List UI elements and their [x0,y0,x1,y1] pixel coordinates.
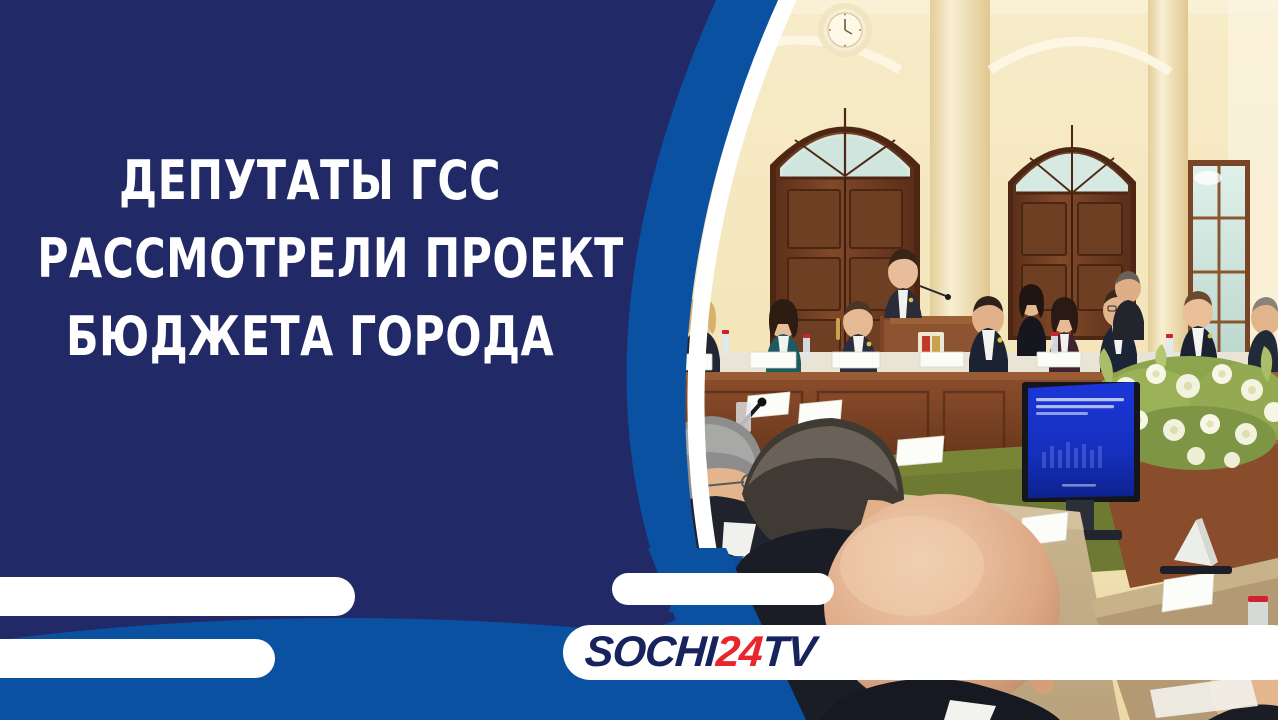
logo-bar: SOCHI24TV [563,625,1278,680]
logo-notch-bar [612,573,834,605]
headline-line-1: ДЕПУТАТЫ ГСС [37,142,583,220]
logo-text-24: 24 [715,631,764,674]
wall-clock [818,3,872,57]
upper-accent-bar [0,577,355,616]
logo-text-sochi: SOCHI [583,631,717,674]
lower-accent-bar [0,639,275,678]
sochi24tv-logo: SOCHI24TV [583,631,816,674]
news-card: ДЕПУТАТЫ ГСС РАССМОТРЕЛИ ПРОЕКТ БЮДЖЕТА … [0,0,1278,720]
headline-line-2: РАССМОТРЕЛИ ПРОЕКТ [37,220,583,298]
headline-line-3: БЮДЖЕТА ГОРОДА [37,298,583,376]
logo-text-tv: TV [761,631,817,674]
page-title: ДЕПУТАТЫ ГСС РАССМОТРЕЛИ ПРОЕКТ БЮДЖЕТА … [37,142,583,376]
